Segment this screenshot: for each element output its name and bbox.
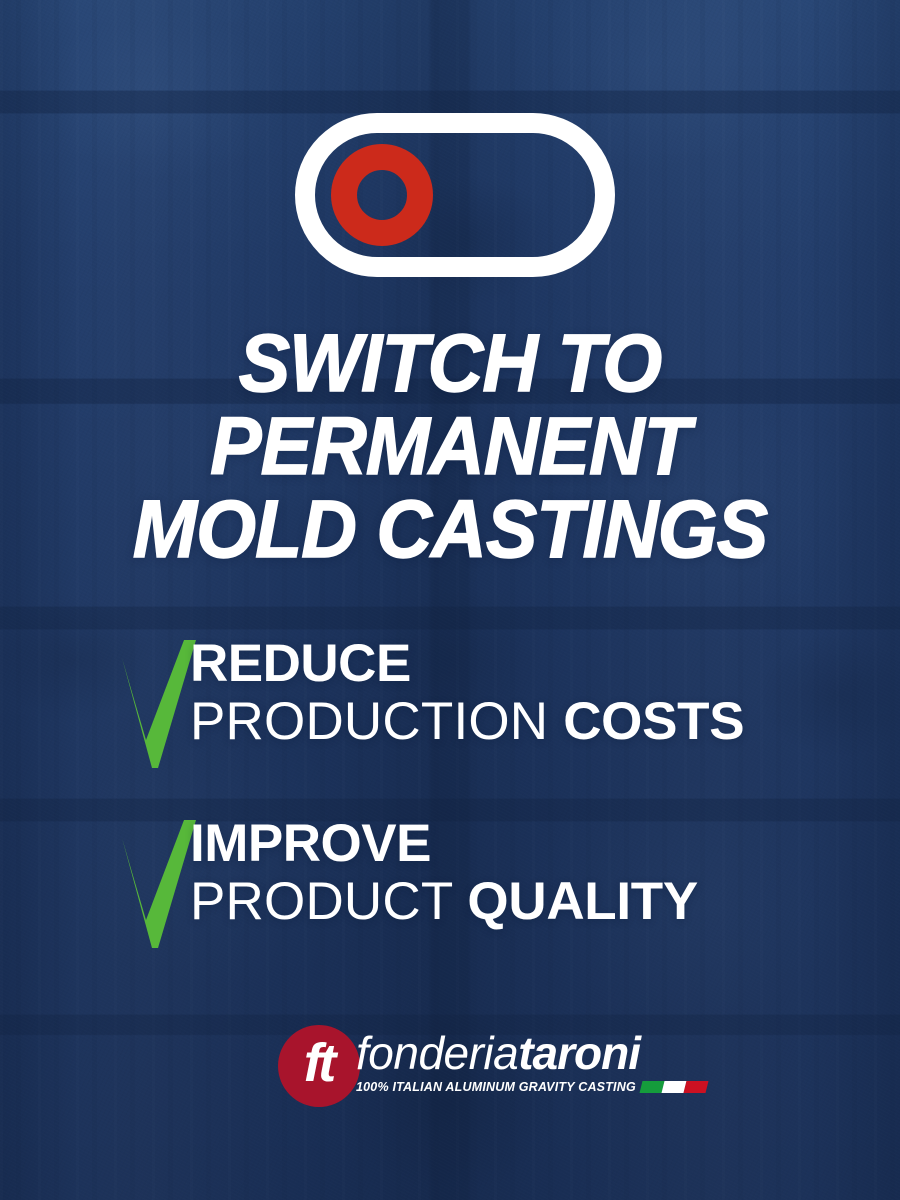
benefit-1-line-1: REDUCE: [190, 636, 828, 692]
benefit-2-line-2-light: PRODUCT: [190, 872, 467, 931]
benefit-text-reduce-costs: REDUCE PRODUCTION COSTS: [190, 636, 828, 752]
logo-wordmark-bold: taroni: [518, 1027, 640, 1079]
benefit-1-line-2: PRODUCTION COSTS: [190, 692, 828, 752]
poster-root: SWITCH TO PERMANENT MOLD CASTINGS REDUCE…: [0, 0, 900, 1200]
logo-wordmark: fonderiataroni: [356, 1030, 640, 1076]
green-checkmark-icon: [122, 640, 200, 768]
italian-flag-icon: [641, 1081, 707, 1093]
toggle-switch-icon: [295, 113, 615, 277]
toggle-knob-ring: [331, 144, 433, 246]
benefit-text-improve-quality: IMPROVE PRODUCT QUALITY: [190, 816, 828, 932]
flag-stripe-white: [661, 1081, 686, 1093]
poster-content: SWITCH TO PERMANENT MOLD CASTINGS REDUCE…: [0, 0, 900, 1200]
benefit-item-reduce-costs: REDUCE PRODUCTION COSTS: [128, 636, 828, 752]
logo-monogram-text: ft: [304, 1036, 333, 1090]
benefit-1-line-2-bold: COSTS: [563, 692, 744, 751]
benefit-list: REDUCE PRODUCTION COSTS IMPROVE PRODUCT …: [128, 636, 828, 932]
flag-stripe-red: [683, 1081, 708, 1093]
benefit-item-improve-quality: IMPROVE PRODUCT QUALITY: [128, 816, 828, 932]
benefit-2-line-2-bold: QUALITY: [467, 872, 698, 931]
logo-tagline-row: 100% ITALIAN ALUMINUM GRAVITY CASTING: [356, 1080, 707, 1094]
headline-line-2: PERMANENT: [27, 405, 873, 488]
page-title: SWITCH TO PERMANENT MOLD CASTINGS: [27, 322, 873, 571]
headline-line-3: MOLD CASTINGS: [27, 488, 873, 571]
logo-wordmark-light: fonderia: [356, 1027, 518, 1079]
benefit-2-line-2: PRODUCT QUALITY: [190, 872, 828, 932]
green-checkmark-icon: [122, 820, 200, 948]
headline-line-1: SWITCH TO: [27, 322, 873, 405]
benefit-2-line-1: IMPROVE: [190, 816, 828, 872]
flag-stripe-green: [639, 1081, 664, 1093]
logo-monogram-badge: ft: [278, 1025, 360, 1107]
company-logo: ft fonderiataroni 100% ITALIAN ALUMINUM …: [278, 1022, 638, 1118]
logo-tagline: 100% ITALIAN ALUMINUM GRAVITY CASTING: [356, 1080, 636, 1094]
benefit-1-line-2-light: PRODUCTION: [190, 692, 563, 751]
